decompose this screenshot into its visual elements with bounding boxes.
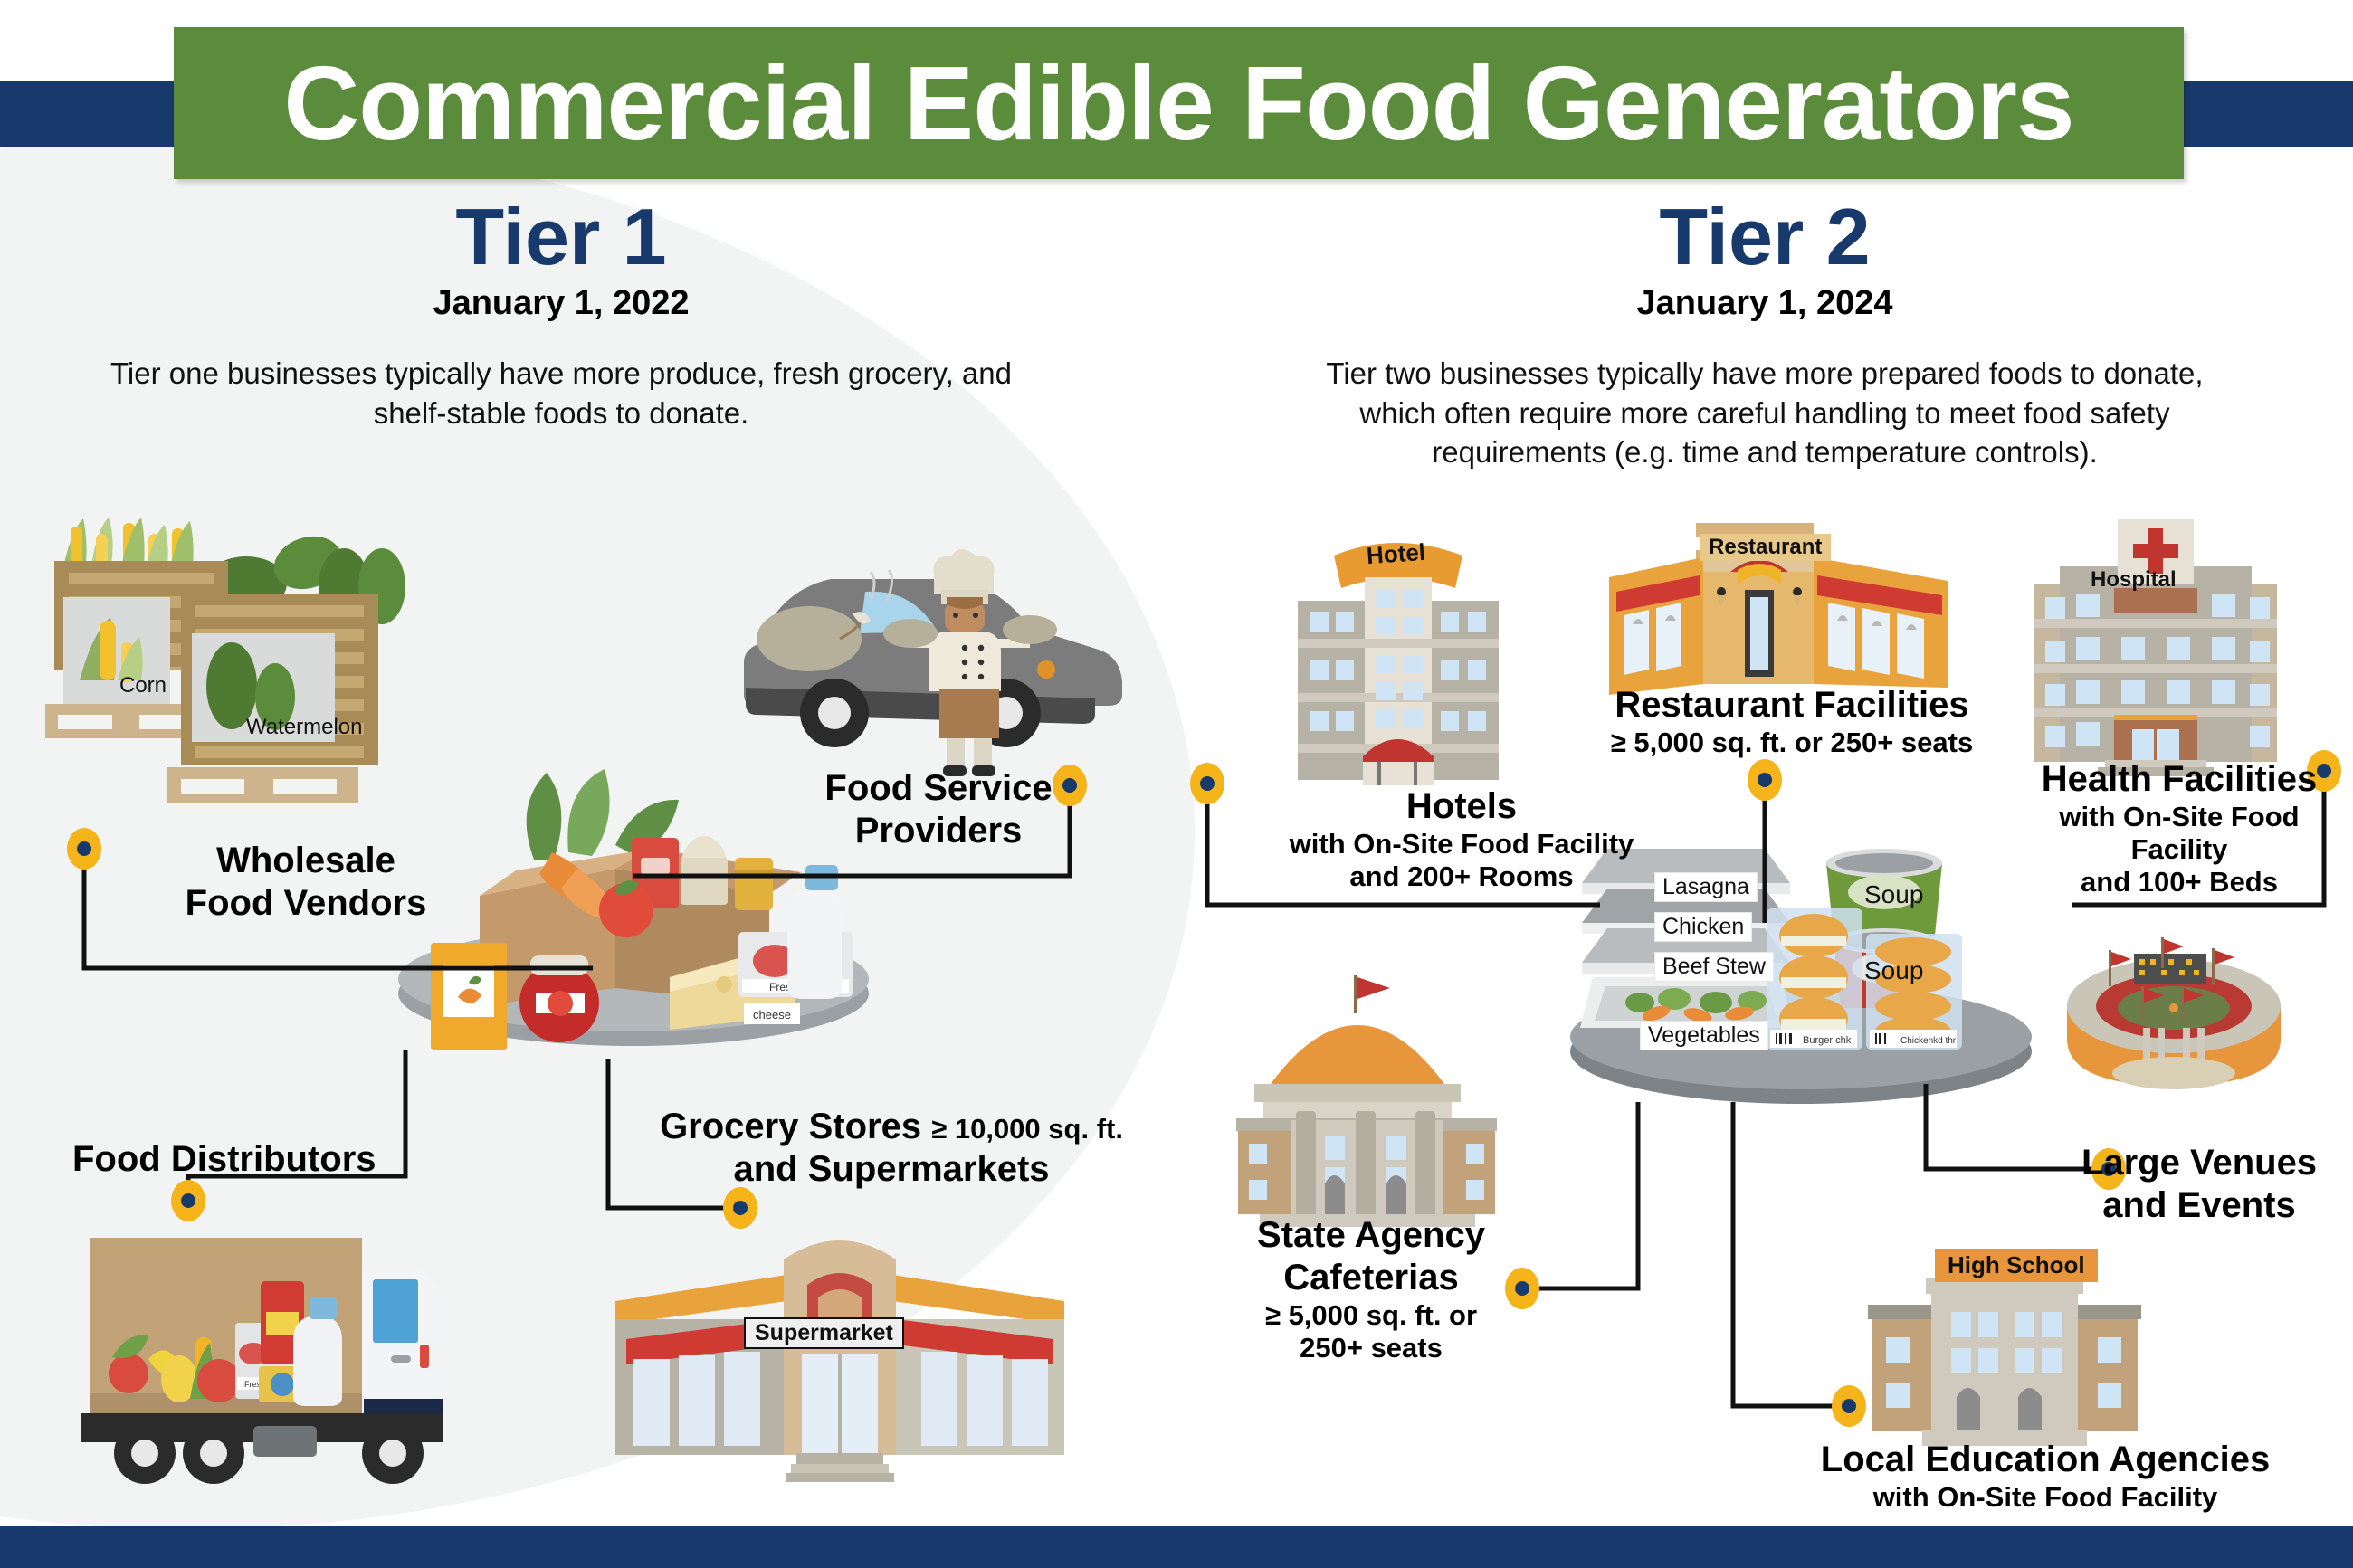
label-state-agency-cafeterias: State Agency Cafeterias ≥ 5,000 sq. ft. … [1204, 1214, 1538, 1364]
dot-education [1832, 1385, 1866, 1427]
label-food-distributors: Food Distributors [72, 1138, 471, 1181]
label-line-1: Large Venues [2054, 1142, 2344, 1184]
connector-education [1733, 1102, 1843, 1406]
label-line-1: Food Service [762, 767, 1115, 810]
label-line-2: with On-Site Food Facility [1267, 828, 1656, 860]
label-line-2: with On-Site Food Facility [1765, 1481, 2326, 1514]
label-line-2: ≥ 5,000 sq. ft. or 250+ seats [1566, 727, 2018, 759]
label-food-service-providers: Food Service Providers [762, 767, 1115, 852]
label-line-3: and 100+ Beds [2007, 866, 2351, 898]
dot-hotels [1190, 763, 1224, 804]
label-line-4: 250+ seats [1204, 1332, 1538, 1364]
connector-stateagency [1527, 1102, 1638, 1288]
infographic-canvas: Commercial Edible Food Generators Tier 1… [0, 0, 2353, 1568]
label-line-2: Providers [762, 810, 1115, 852]
label-wholesale-food-vendors: Wholesale Food Vendors [116, 840, 496, 925]
dot-restaurant [1748, 759, 1782, 801]
connector-lines-layer [0, 0, 2353, 1568]
dot-distributors [171, 1180, 205, 1221]
label-line-1: State Agency [1204, 1214, 1538, 1257]
label-large-venues-and-events: Large Venues and Events [2054, 1142, 2344, 1227]
connector-distributors [188, 1050, 405, 1220]
label-line-2: and Events [2054, 1184, 2344, 1227]
label-grocery-qualifier: ≥ 10,000 sq. ft. [931, 1113, 1123, 1145]
label-hotels: Hotels with On-Site Food Facility and 20… [1267, 785, 1656, 893]
label-line-3: ≥ 5,000 sq. ft. or [1204, 1299, 1538, 1332]
label-line-1: Health Facilities [2007, 758, 2351, 801]
label-line-2: with On-Site Food Facility [2007, 801, 2351, 867]
label-line-3: and 200+ Rooms [1267, 860, 1656, 893]
label-line-1: Food Distributors [72, 1138, 471, 1181]
label-local-education-agencies: Local Education Agencies with On-Site Fo… [1765, 1439, 2326, 1514]
label-line-2: Food Vendors [116, 882, 496, 925]
label-grocery-main: Grocery Stores [660, 1107, 921, 1146]
label-line-2: and Supermarkets [633, 1148, 1149, 1191]
dot-grocery [723, 1187, 757, 1229]
label-line-1: Wholesale [116, 840, 496, 882]
label-restaurant-facilities: Restaurant Facilities ≥ 5,000 sq. ft. or… [1566, 684, 2018, 759]
label-line-2: Cafeterias [1204, 1257, 1538, 1299]
label-line-1: Local Education Agencies [1765, 1439, 2326, 1481]
dot-wholesale [67, 828, 101, 870]
label-health-facilities: Health Facilities with On-Site Food Faci… [2007, 758, 2351, 899]
label-grocery-stores: Grocery Stores ≥ 10,000 sq. ft. and Supe… [633, 1106, 1149, 1191]
label-line-1: Grocery Stores ≥ 10,000 sq. ft. [660, 1107, 1123, 1146]
label-line-1: Restaurant Facilities [1566, 684, 2018, 727]
label-line-1: Hotels [1267, 785, 1656, 828]
